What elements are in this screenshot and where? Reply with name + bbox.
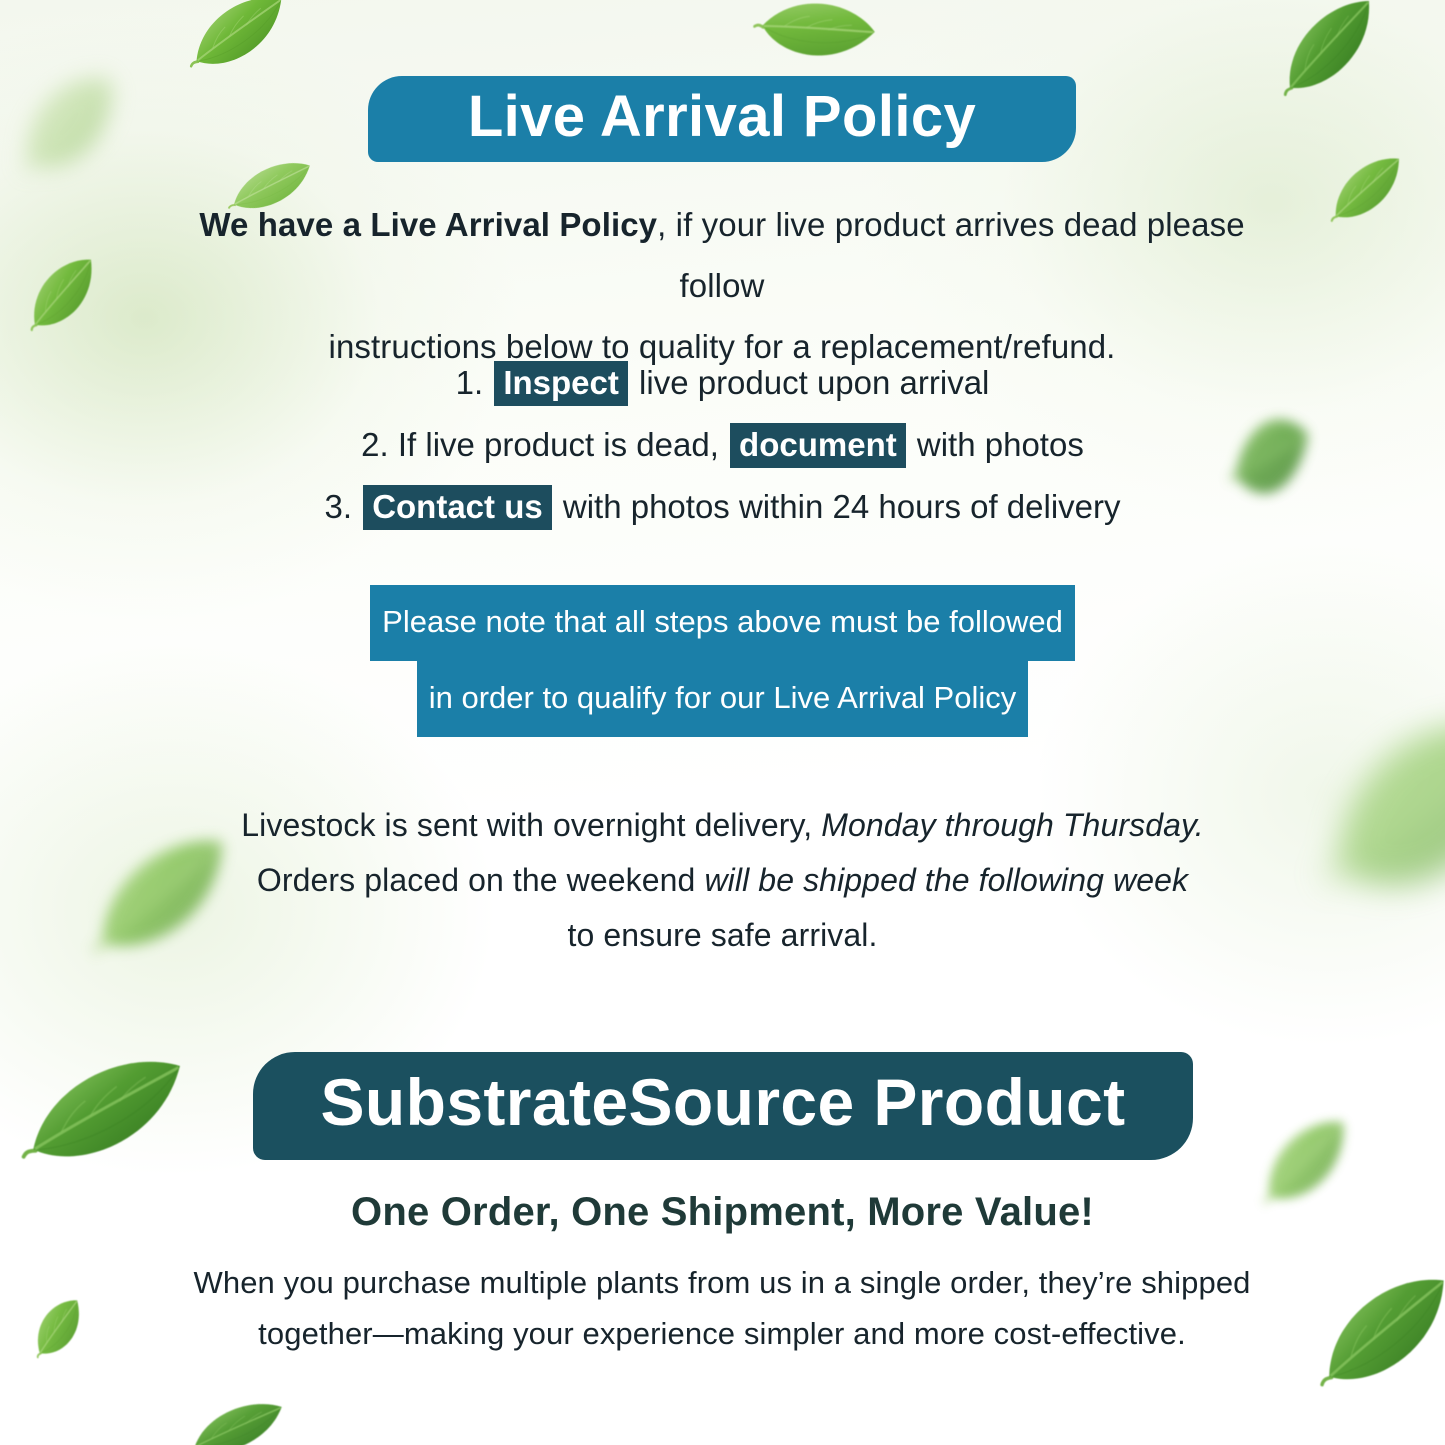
step-3-after: with photos within 24 hours of delivery <box>563 488 1121 525</box>
substratesource-product-banner: SubstrateSource Product <box>253 1052 1193 1160</box>
live-arrival-policy-banner: Live Arrival Policy <box>368 76 1076 162</box>
shipping-line-2-plain: Orders placed on the weekend <box>257 862 696 898</box>
step-1-after: live product upon arrival <box>639 364 989 401</box>
substratesource-product-title: SubstrateSource Product <box>320 1064 1125 1140</box>
shipping-line-2-italic: will be shipped the following week <box>704 862 1188 898</box>
note-line-2: in order to qualify for our Live Arrival… <box>417 661 1029 737</box>
shipping-line-1: Livestock is sent with overnight deliver… <box>180 798 1265 853</box>
value-prop-line-1: When you purchase multiple plants from u… <box>172 1257 1272 1308</box>
note-line-1: Please note that all steps above must be… <box>370 585 1075 661</box>
live-arrival-policy-page: Live Arrival Policy We have a Live Arriv… <box>0 0 1445 1445</box>
policy-note: Please note that all steps above must be… <box>160 585 1285 737</box>
step-3-number: 3. <box>324 488 352 525</box>
list-item: 2. If live product is dead, document wit… <box>160 414 1285 476</box>
value-prop-subheading: One Order, One Shipment, More Value! <box>180 1190 1265 1235</box>
note-row-1: Please note that all steps above must be… <box>160 585 1285 661</box>
step-2-highlight: document <box>730 423 906 468</box>
shipping-line-1-italic: Monday through Thursday. <box>821 807 1203 843</box>
shipping-schedule-paragraph: Livestock is sent with overnight deliver… <box>180 798 1265 963</box>
intro-line-1: We have a Live Arrival Policy, if your l… <box>172 194 1272 316</box>
intro-line-1-rest: , if your live product arrives dead plea… <box>657 206 1245 304</box>
value-prop-line-2: together—making your experience simpler … <box>172 1308 1272 1359</box>
step-1-number: 1. <box>456 364 484 401</box>
policy-steps-list: 1. Inspect live product upon arrival 2. … <box>160 352 1285 538</box>
intro-lead-bold: We have a Live Arrival Policy <box>199 206 657 243</box>
note-row-2: in order to qualify for our Live Arrival… <box>160 661 1285 737</box>
list-item: 1. Inspect live product upon arrival <box>160 352 1285 414</box>
live-arrival-policy-title: Live Arrival Policy <box>468 83 976 150</box>
shipping-line-1-plain: Livestock is sent with overnight deliver… <box>241 807 812 843</box>
policy-content: Live Arrival Policy We have a Live Arriv… <box>0 0 1445 1445</box>
value-prop-paragraph: When you purchase multiple plants from u… <box>172 1257 1272 1359</box>
list-item: 3. Contact us with photos within 24 hour… <box>160 476 1285 538</box>
shipping-line-3: to ensure safe arrival. <box>180 908 1265 963</box>
step-2-after: with photos <box>917 426 1084 463</box>
step-1-highlight: Inspect <box>494 361 628 406</box>
step-3-highlight: Contact us <box>363 485 552 530</box>
shipping-line-2: Orders placed on the weekend will be shi… <box>180 853 1265 908</box>
step-2-number: 2. <box>361 426 389 463</box>
intro-paragraph: We have a Live Arrival Policy, if your l… <box>172 194 1272 377</box>
step-2-before: If live product is dead, <box>398 426 719 463</box>
